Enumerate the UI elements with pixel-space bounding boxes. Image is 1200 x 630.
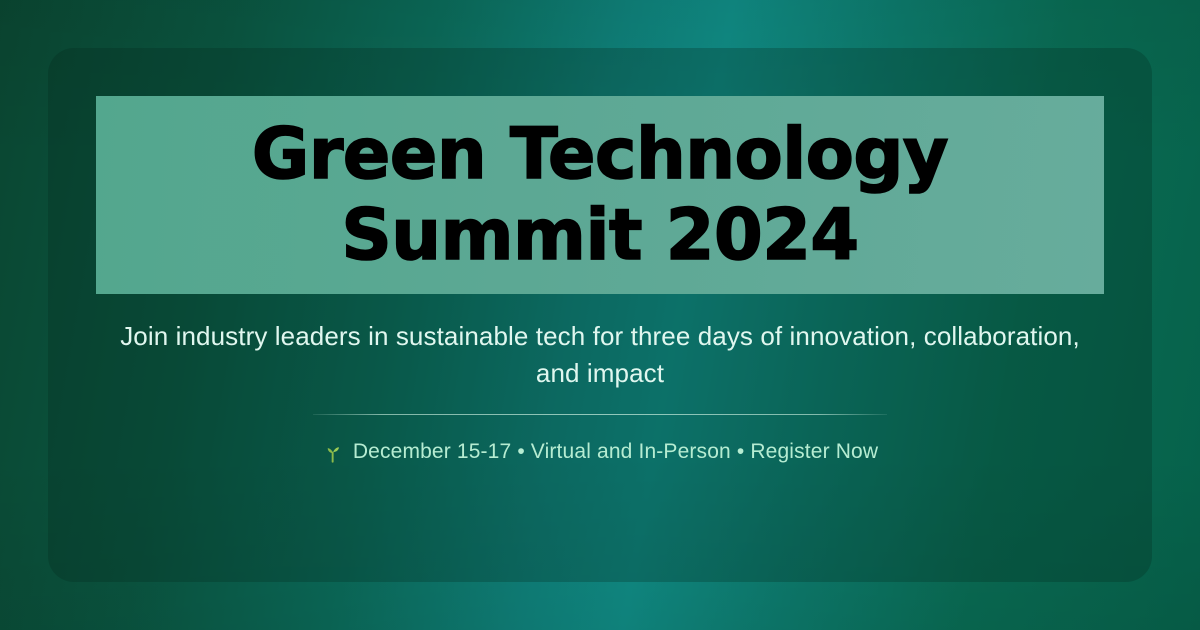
event-meta-row: December 15-17 • Virtual and In-Person •…: [322, 441, 878, 463]
event-poster: Green Technology Summit 2024 Join indust…: [0, 0, 1200, 630]
page-title: Green Technology Summit 2024: [234, 114, 966, 276]
page-title-line-2: Summit 2024: [252, 195, 948, 276]
sprout-icon: [322, 442, 344, 464]
title-banner: Green Technology Summit 2024: [96, 96, 1104, 294]
page-title-line-1: Green Technology: [252, 114, 948, 195]
poster-body: Join industry leaders in sustainable tec…: [48, 318, 1152, 463]
subtitle-text: Join industry leaders in sustainable tec…: [97, 318, 1103, 392]
poster-card: Green Technology Summit 2024 Join indust…: [48, 48, 1152, 582]
section-divider: [313, 414, 887, 415]
event-meta-text: December 15-17 • Virtual and In-Person •…: [353, 441, 878, 462]
